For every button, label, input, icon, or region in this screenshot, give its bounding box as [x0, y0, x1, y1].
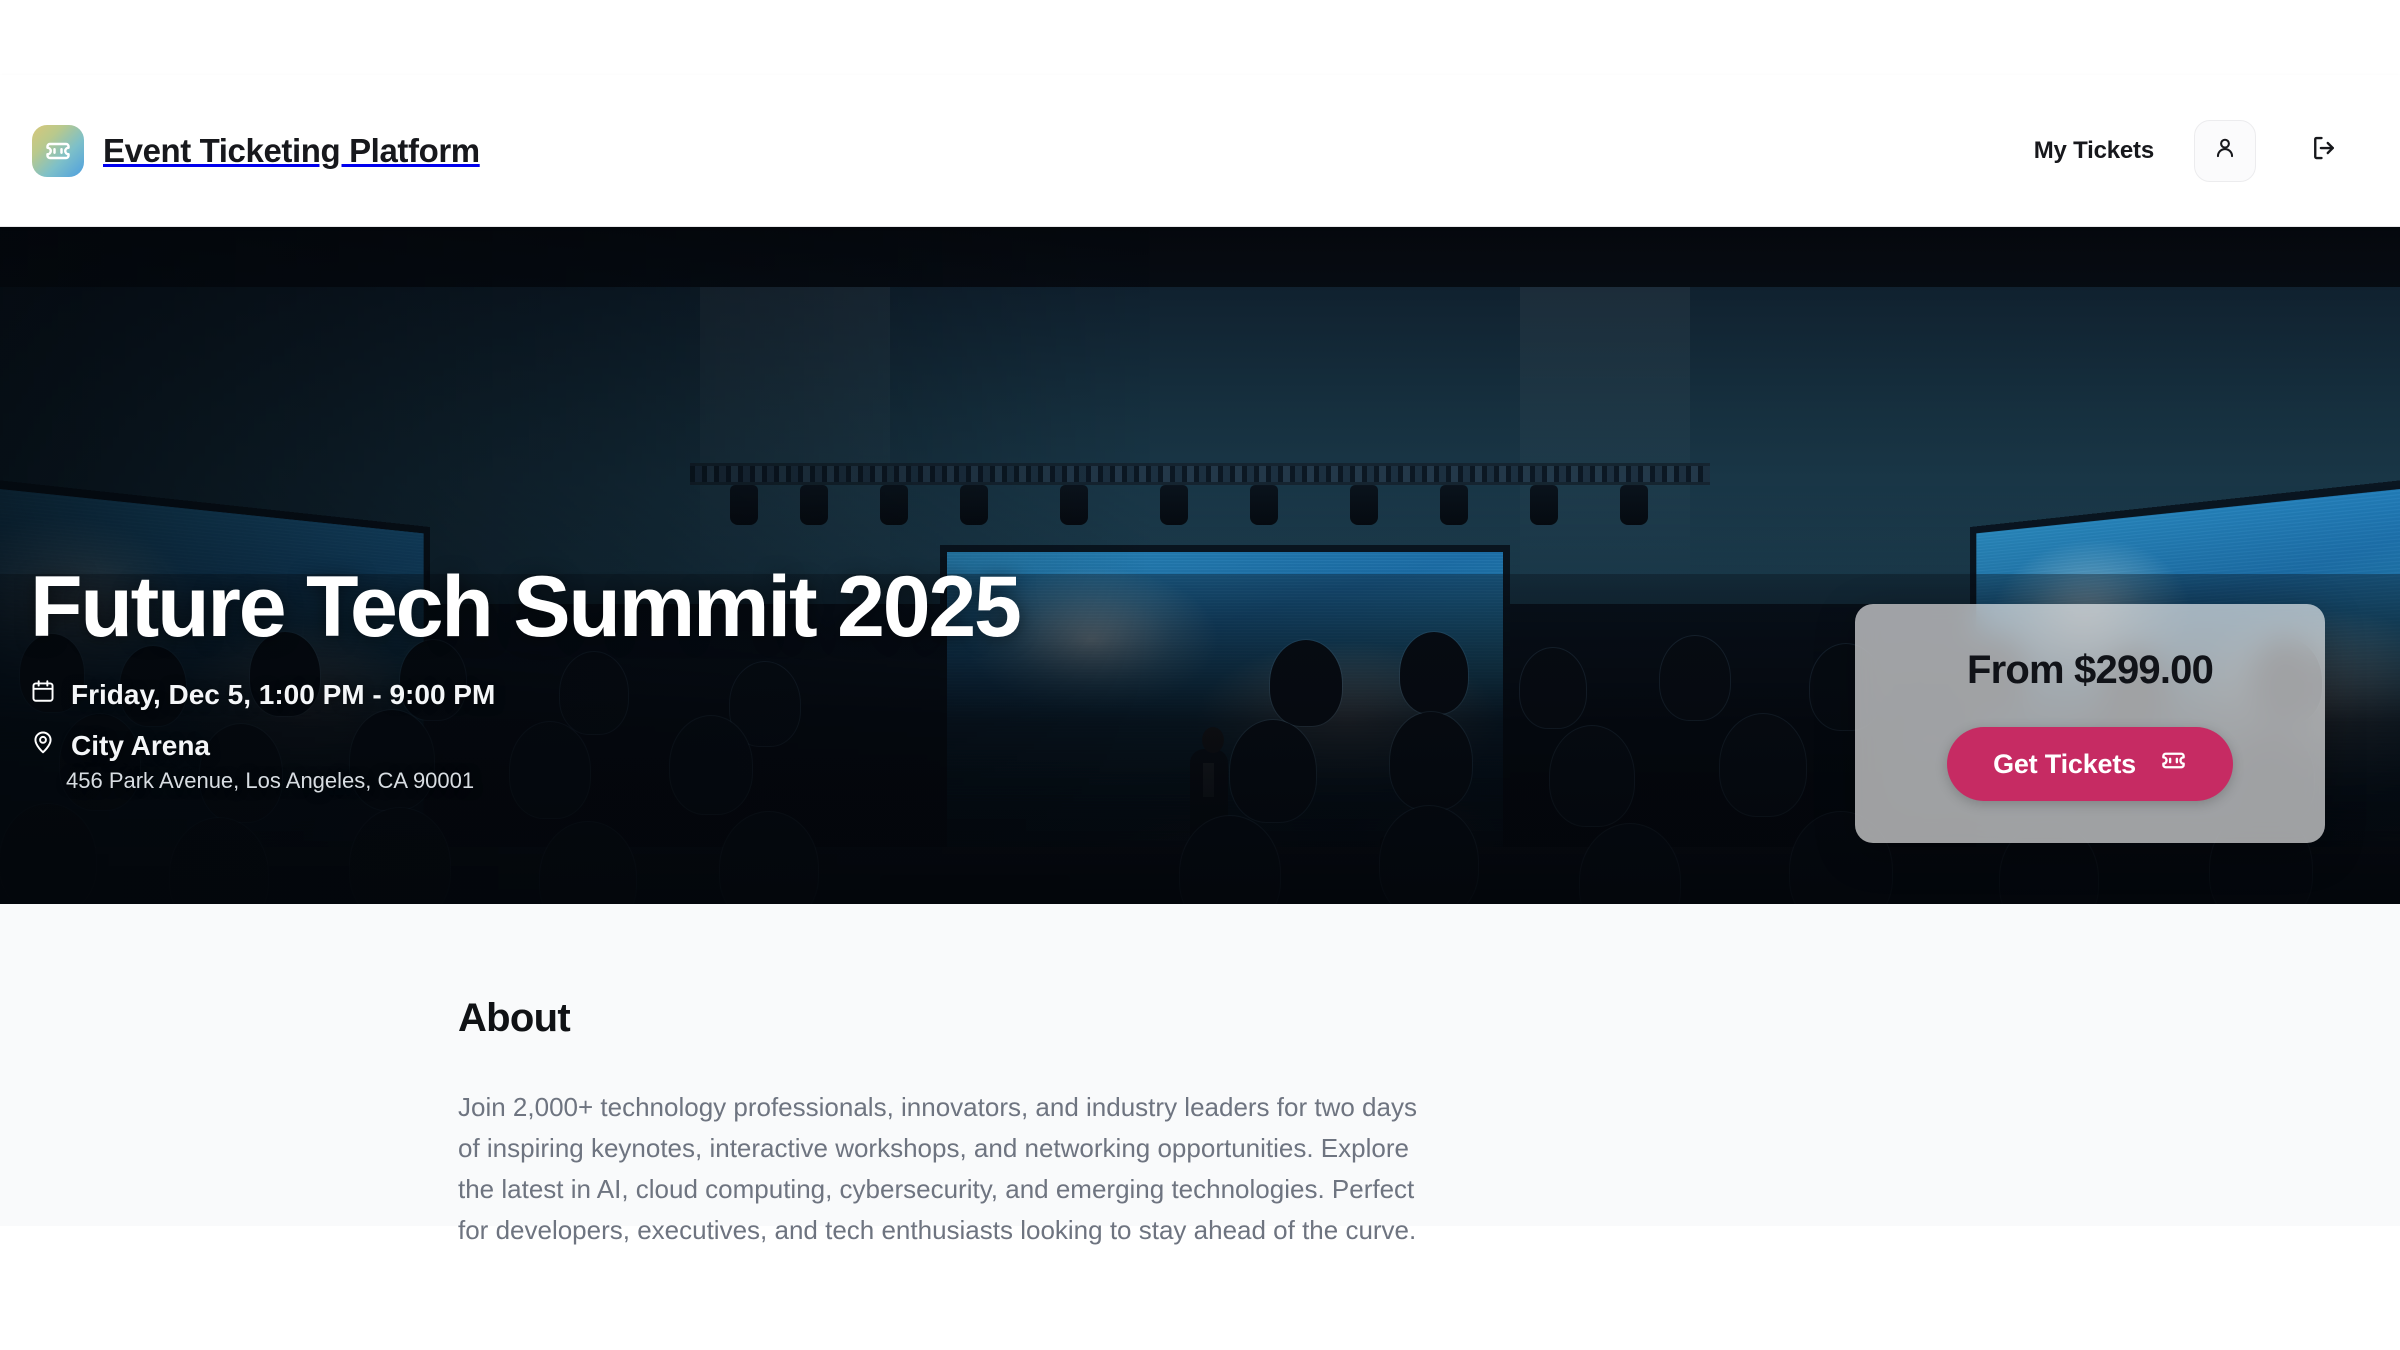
event-datetime: Friday, Dec 5, 1:00 PM - 9:00 PM — [30, 678, 1020, 711]
event-datetime-text: Friday, Dec 5, 1:00 PM - 9:00 PM — [71, 679, 495, 711]
ticket-price-card: From $299.00 Get Tickets — [1855, 604, 2325, 843]
page-top-spacer — [0, 0, 2400, 75]
brand-home-link[interactable]: Event Ticketing Platform — [30, 125, 480, 177]
header-actions: My Tickets — [2024, 120, 2370, 182]
event-hero: Future Tech Summit 2025 Friday, Dec 5, 1… — [0, 227, 2400, 904]
nav-my-tickets[interactable]: My Tickets — [2024, 129, 2164, 173]
event-venue-text: City Arena — [71, 730, 210, 762]
map-pin-icon — [30, 729, 56, 762]
get-tickets-button[interactable]: Get Tickets — [1947, 727, 2233, 801]
account-button[interactable] — [2194, 120, 2256, 182]
about-body: Join 2,000+ technology professionals, in… — [458, 1087, 1440, 1251]
logout-button[interactable] — [2298, 125, 2350, 177]
page-title: Future Tech Summit 2025 — [30, 563, 1020, 652]
logout-icon — [2309, 133, 2339, 168]
hero-content: Future Tech Summit 2025 Friday, Dec 5, 1… — [30, 563, 1020, 794]
ticket-icon — [2160, 747, 2187, 781]
user-icon — [2212, 135, 2238, 166]
ticket-icon — [32, 125, 84, 177]
event-venue: City Arena — [30, 729, 1020, 762]
event-address: 456 Park Avenue, Los Angeles, CA 90001 — [30, 768, 1020, 794]
about-heading: About — [458, 996, 1440, 1041]
brand-title: Event Ticketing Platform — [103, 132, 480, 170]
site-header: Event Ticketing Platform My Tickets — [0, 75, 2400, 227]
price-from-label: From $299.00 — [1895, 648, 2285, 693]
get-tickets-label: Get Tickets — [1993, 749, 2136, 780]
calendar-icon — [30, 678, 56, 711]
about-section: About Join 2,000+ technology professiona… — [0, 904, 2400, 1226]
